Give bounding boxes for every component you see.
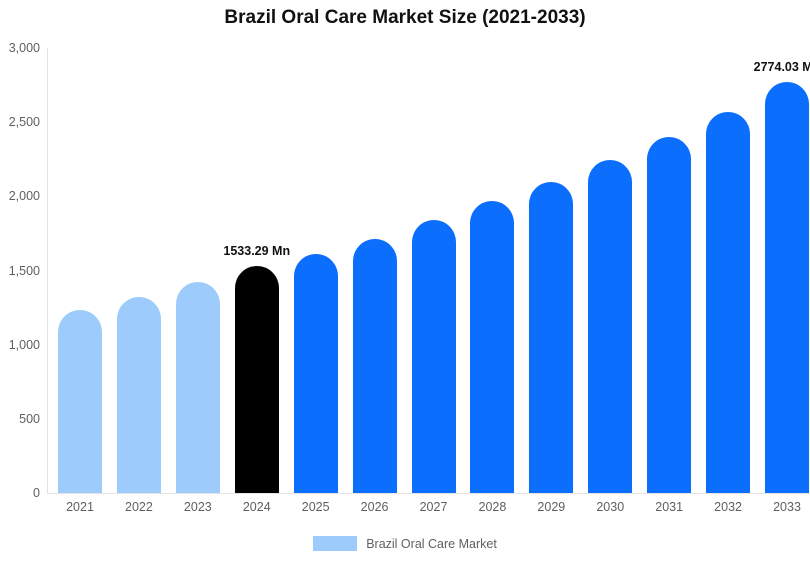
x-axis-tick-label-2021: 2021 [58, 500, 102, 514]
bar-2030[interactable] [588, 160, 632, 493]
y-axis-tick-label: 2,000 [0, 189, 40, 203]
bar-2032[interactable] [706, 112, 750, 493]
bar-2029[interactable] [529, 182, 573, 494]
x-axis-tick-label-2029: 2029 [529, 500, 573, 514]
x-axis-tick-label-2031: 2031 [647, 500, 691, 514]
plot-area: 1533.29 Mn2774.03 Mn [47, 48, 810, 494]
y-axis-tick-label: 2,500 [0, 115, 40, 129]
bar-value-label-2024: 1533.29 Mn [223, 244, 290, 258]
y-axis-line [47, 48, 48, 494]
legend-swatch [313, 536, 357, 551]
x-axis-tick-label-2032: 2032 [706, 500, 750, 514]
bar-2024[interactable] [235, 266, 279, 493]
x-axis-tick-label-2030: 2030 [588, 500, 632, 514]
y-axis-tick-label: 500 [0, 412, 40, 426]
bar-2026[interactable] [353, 239, 397, 493]
bar-2021[interactable] [58, 310, 102, 493]
x-axis-tick-label-2028: 2028 [470, 500, 514, 514]
x-axis-tick-label-2023: 2023 [176, 500, 220, 514]
bar-2025[interactable] [294, 254, 338, 493]
bar-2022[interactable] [117, 297, 161, 493]
bar-value-label-2033: 2774.03 Mn [754, 60, 810, 74]
x-axis-tick-label-2025: 2025 [294, 500, 338, 514]
legend-item-brazil-oral-care-market: Brazil Oral Care Market [313, 536, 497, 551]
y-axis-tick-label: 3,000 [0, 41, 40, 55]
x-axis-tick-label-2027: 2027 [412, 500, 456, 514]
x-axis-line [47, 493, 810, 494]
chart-legend: Brazil Oral Care Market [0, 536, 810, 551]
y-axis-tick-label: 1,000 [0, 338, 40, 352]
bar-2031[interactable] [647, 137, 691, 493]
x-axis: 2021202220232024202520262027202820292030… [47, 500, 810, 520]
y-axis-tick-label: 1,500 [0, 264, 40, 278]
bar-2028[interactable] [470, 201, 514, 493]
bar-2023[interactable] [176, 282, 220, 493]
x-axis-tick-label-2024: 2024 [235, 500, 279, 514]
bar-2027[interactable] [412, 220, 456, 493]
chart-title: Brazil Oral Care Market Size (2021-2033) [0, 7, 810, 29]
x-axis-tick-label-2033: 2033 [765, 500, 809, 514]
x-axis-tick-label-2022: 2022 [117, 500, 161, 514]
bar-chart: Brazil Oral Care Market Size (2021-2033)… [0, 0, 810, 562]
x-axis-tick-label-2026: 2026 [353, 500, 397, 514]
y-axis: 05001,0001,5002,0002,5003,000 [0, 48, 40, 494]
bar-2033[interactable] [765, 82, 809, 493]
y-axis-tick-label: 0 [0, 486, 40, 500]
legend-label: Brazil Oral Care Market [366, 537, 497, 551]
